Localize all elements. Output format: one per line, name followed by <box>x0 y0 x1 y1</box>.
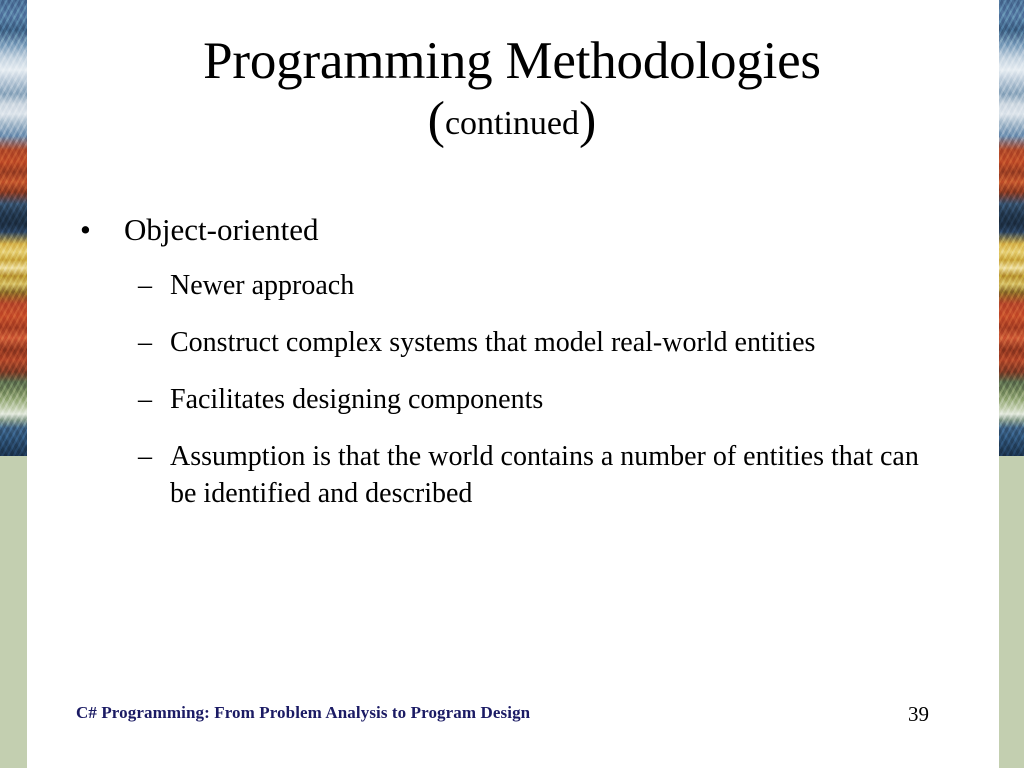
bullet-level1-label: Object-oriented <box>124 210 319 250</box>
slide-page-number: 39 <box>908 702 929 727</box>
dash-icon: – <box>138 382 170 418</box>
slide-body: • Object-oriented – Newer approach – Con… <box>80 210 960 533</box>
sub-bullet-item: – Assumption is that the world contains … <box>80 439 960 513</box>
slide-subtitle: (continued) <box>40 95 984 147</box>
slide-canvas: Programming Methodologies (continued) • … <box>0 0 1024 768</box>
dash-icon: – <box>138 439 170 475</box>
dash-icon: – <box>138 268 170 304</box>
sub-bullet-list: – Newer approach – Construct complex sys… <box>80 268 960 513</box>
sub-bullet-item: – Construct complex systems that model r… <box>80 325 960 362</box>
title-block: Programming Methodologies (continued) <box>40 34 984 147</box>
left-edge-strip <box>0 0 27 768</box>
sub-bullet-item: – Newer approach <box>80 268 960 305</box>
dash-icon: – <box>138 325 170 361</box>
left-strip-photo-image <box>0 0 27 456</box>
subtitle-word: continued <box>445 105 579 142</box>
right-strip-sage-band <box>999 456 1024 768</box>
subtitle-close-paren: ) <box>579 92 596 149</box>
sub-bullet-text: Construct complex systems that model rea… <box>170 325 815 362</box>
sub-bullet-text: Newer approach <box>170 268 354 305</box>
right-strip-photo-image <box>999 0 1024 456</box>
right-edge-strip <box>999 0 1024 768</box>
footer-book-title: C# Programming: From Problem Analysis to… <box>76 703 530 723</box>
sub-bullet-text: Facilitates designing components <box>170 382 543 419</box>
left-strip-sage-band <box>0 456 27 768</box>
slide-title: Programming Methodologies <box>40 34 984 89</box>
bullet-level1: • Object-oriented <box>80 210 960 250</box>
bullet-dot-icon: • <box>80 210 124 250</box>
subtitle-open-paren: ( <box>428 92 445 149</box>
sub-bullet-item: – Facilitates designing components <box>80 382 960 419</box>
sub-bullet-text: Assumption is that the world contains a … <box>170 439 930 513</box>
